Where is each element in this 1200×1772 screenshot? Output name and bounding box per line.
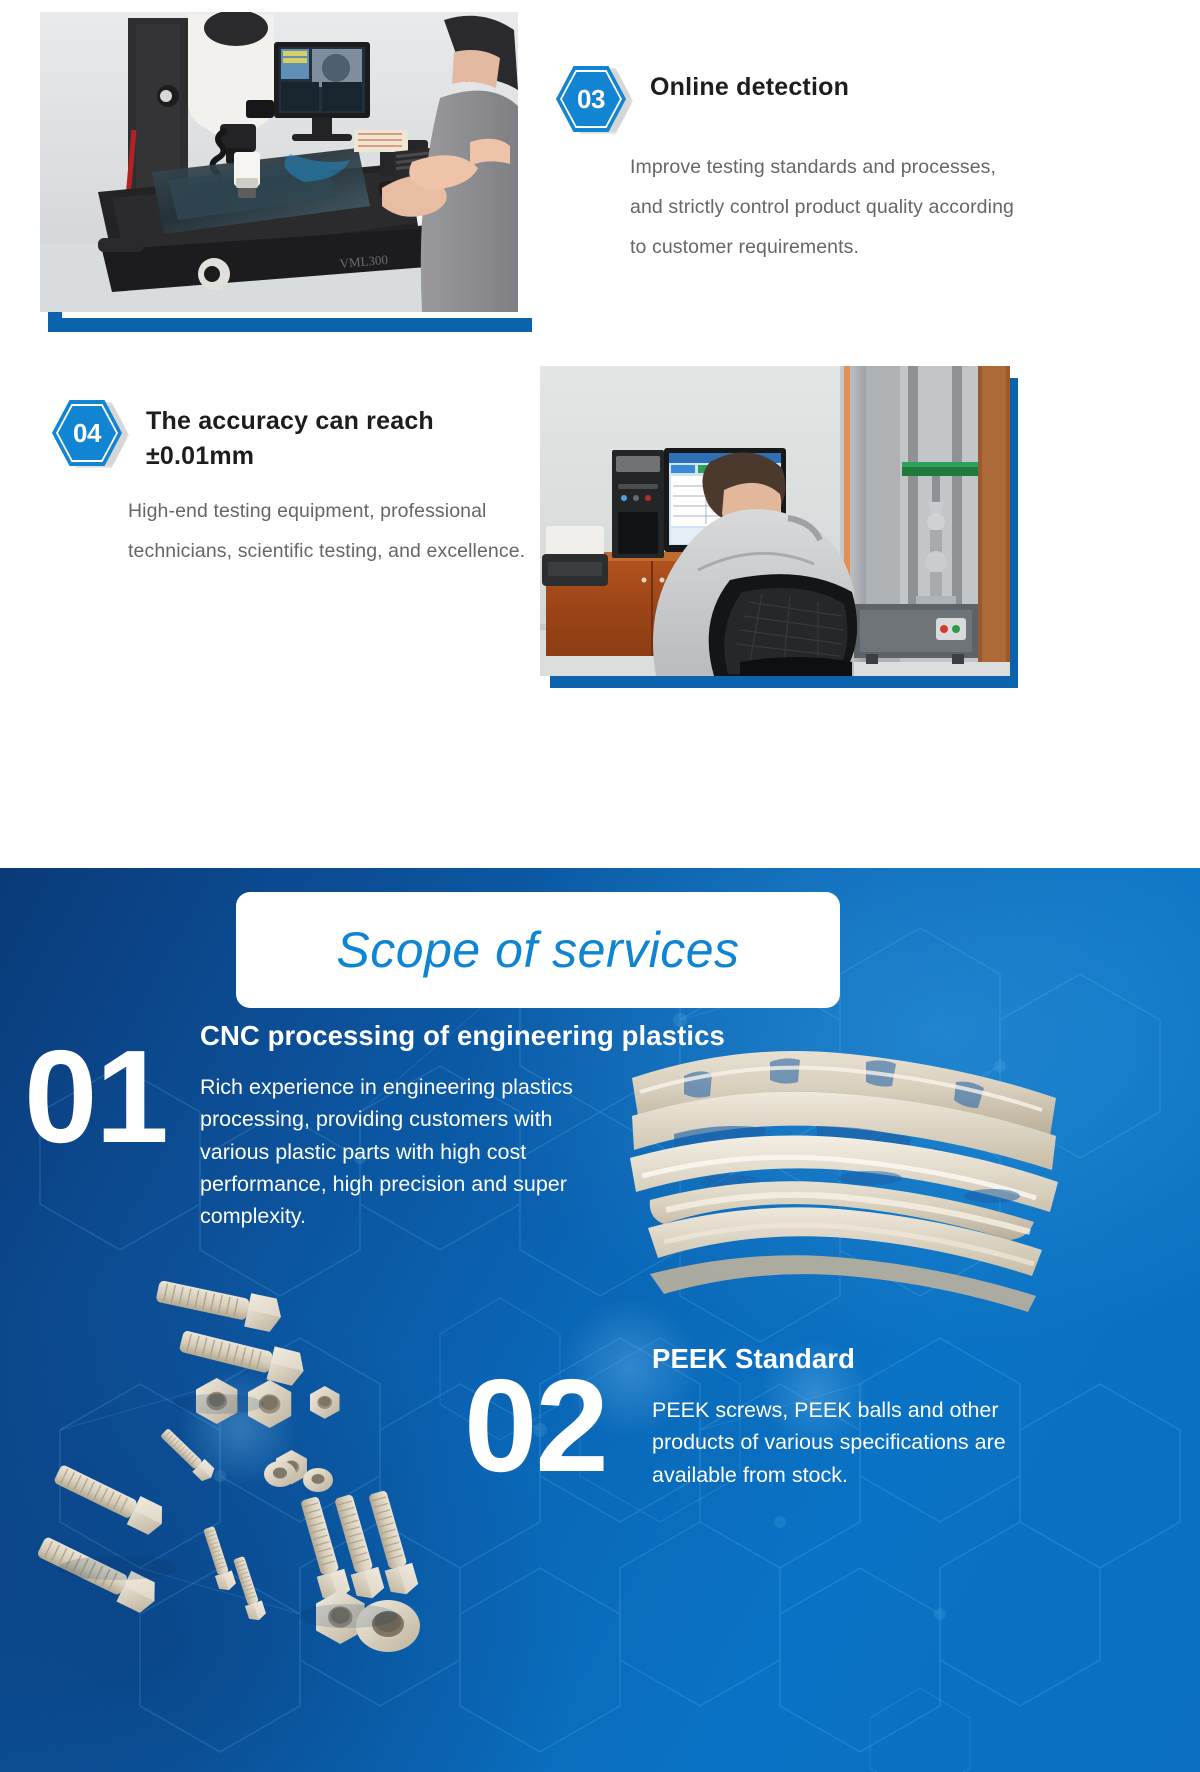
hexagon-number: 03 (556, 66, 626, 132)
photo-online-detection: VML300 (40, 12, 518, 312)
feature-block-04: 04 The accuracy can reach ±0.01mm High-e… (40, 396, 540, 572)
hexagon-badge-icon: 03 (556, 62, 632, 136)
feature-title: Online detection (650, 62, 849, 105)
photo-peek-screws-nuts (18, 1268, 488, 1688)
capability-page: VML300 (0, 0, 1200, 1772)
photo-cnc-plastic-parts (620, 1042, 1070, 1362)
scope-of-services-section: Scope of services 01 CNC processing of e… (0, 868, 1200, 1772)
photo-frame-accuracy (540, 366, 1160, 688)
frame-accent-bottom (48, 318, 532, 332)
feature-description: Improve testing standards and processes,… (630, 148, 1030, 268)
scope-title-card: Scope of services (236, 892, 840, 1008)
feature-description: High-end testing equipment, professional… (128, 492, 548, 572)
scope-title: Scope of services (336, 921, 739, 979)
top-section: VML300 (0, 0, 1200, 868)
scope-title-02: PEEK Standard (652, 1343, 1172, 1375)
scope-number-01: 01 (24, 1031, 167, 1163)
hexagon-badge-icon: 04 (52, 396, 128, 470)
photo-accuracy-testing (540, 366, 1010, 676)
hexagon-number: 04 (52, 400, 122, 466)
scope-body-01: Rich experience in engineering plastics … (200, 1071, 600, 1232)
photo-frame-online-detection: VML300 (40, 12, 530, 322)
feature-heading-row: 04 The accuracy can reach ±0.01mm (40, 396, 540, 474)
scope-number-02: 02 (464, 1360, 607, 1492)
feature-title: The accuracy can reach ±0.01mm (146, 396, 506, 474)
scope-body-02: PEEK screws, PEEK balls and other produc… (652, 1394, 1032, 1491)
feature-block-03: 03 Online detection Improve testing stan… (556, 62, 1168, 268)
feature-heading-row: 03 Online detection (556, 62, 1168, 136)
